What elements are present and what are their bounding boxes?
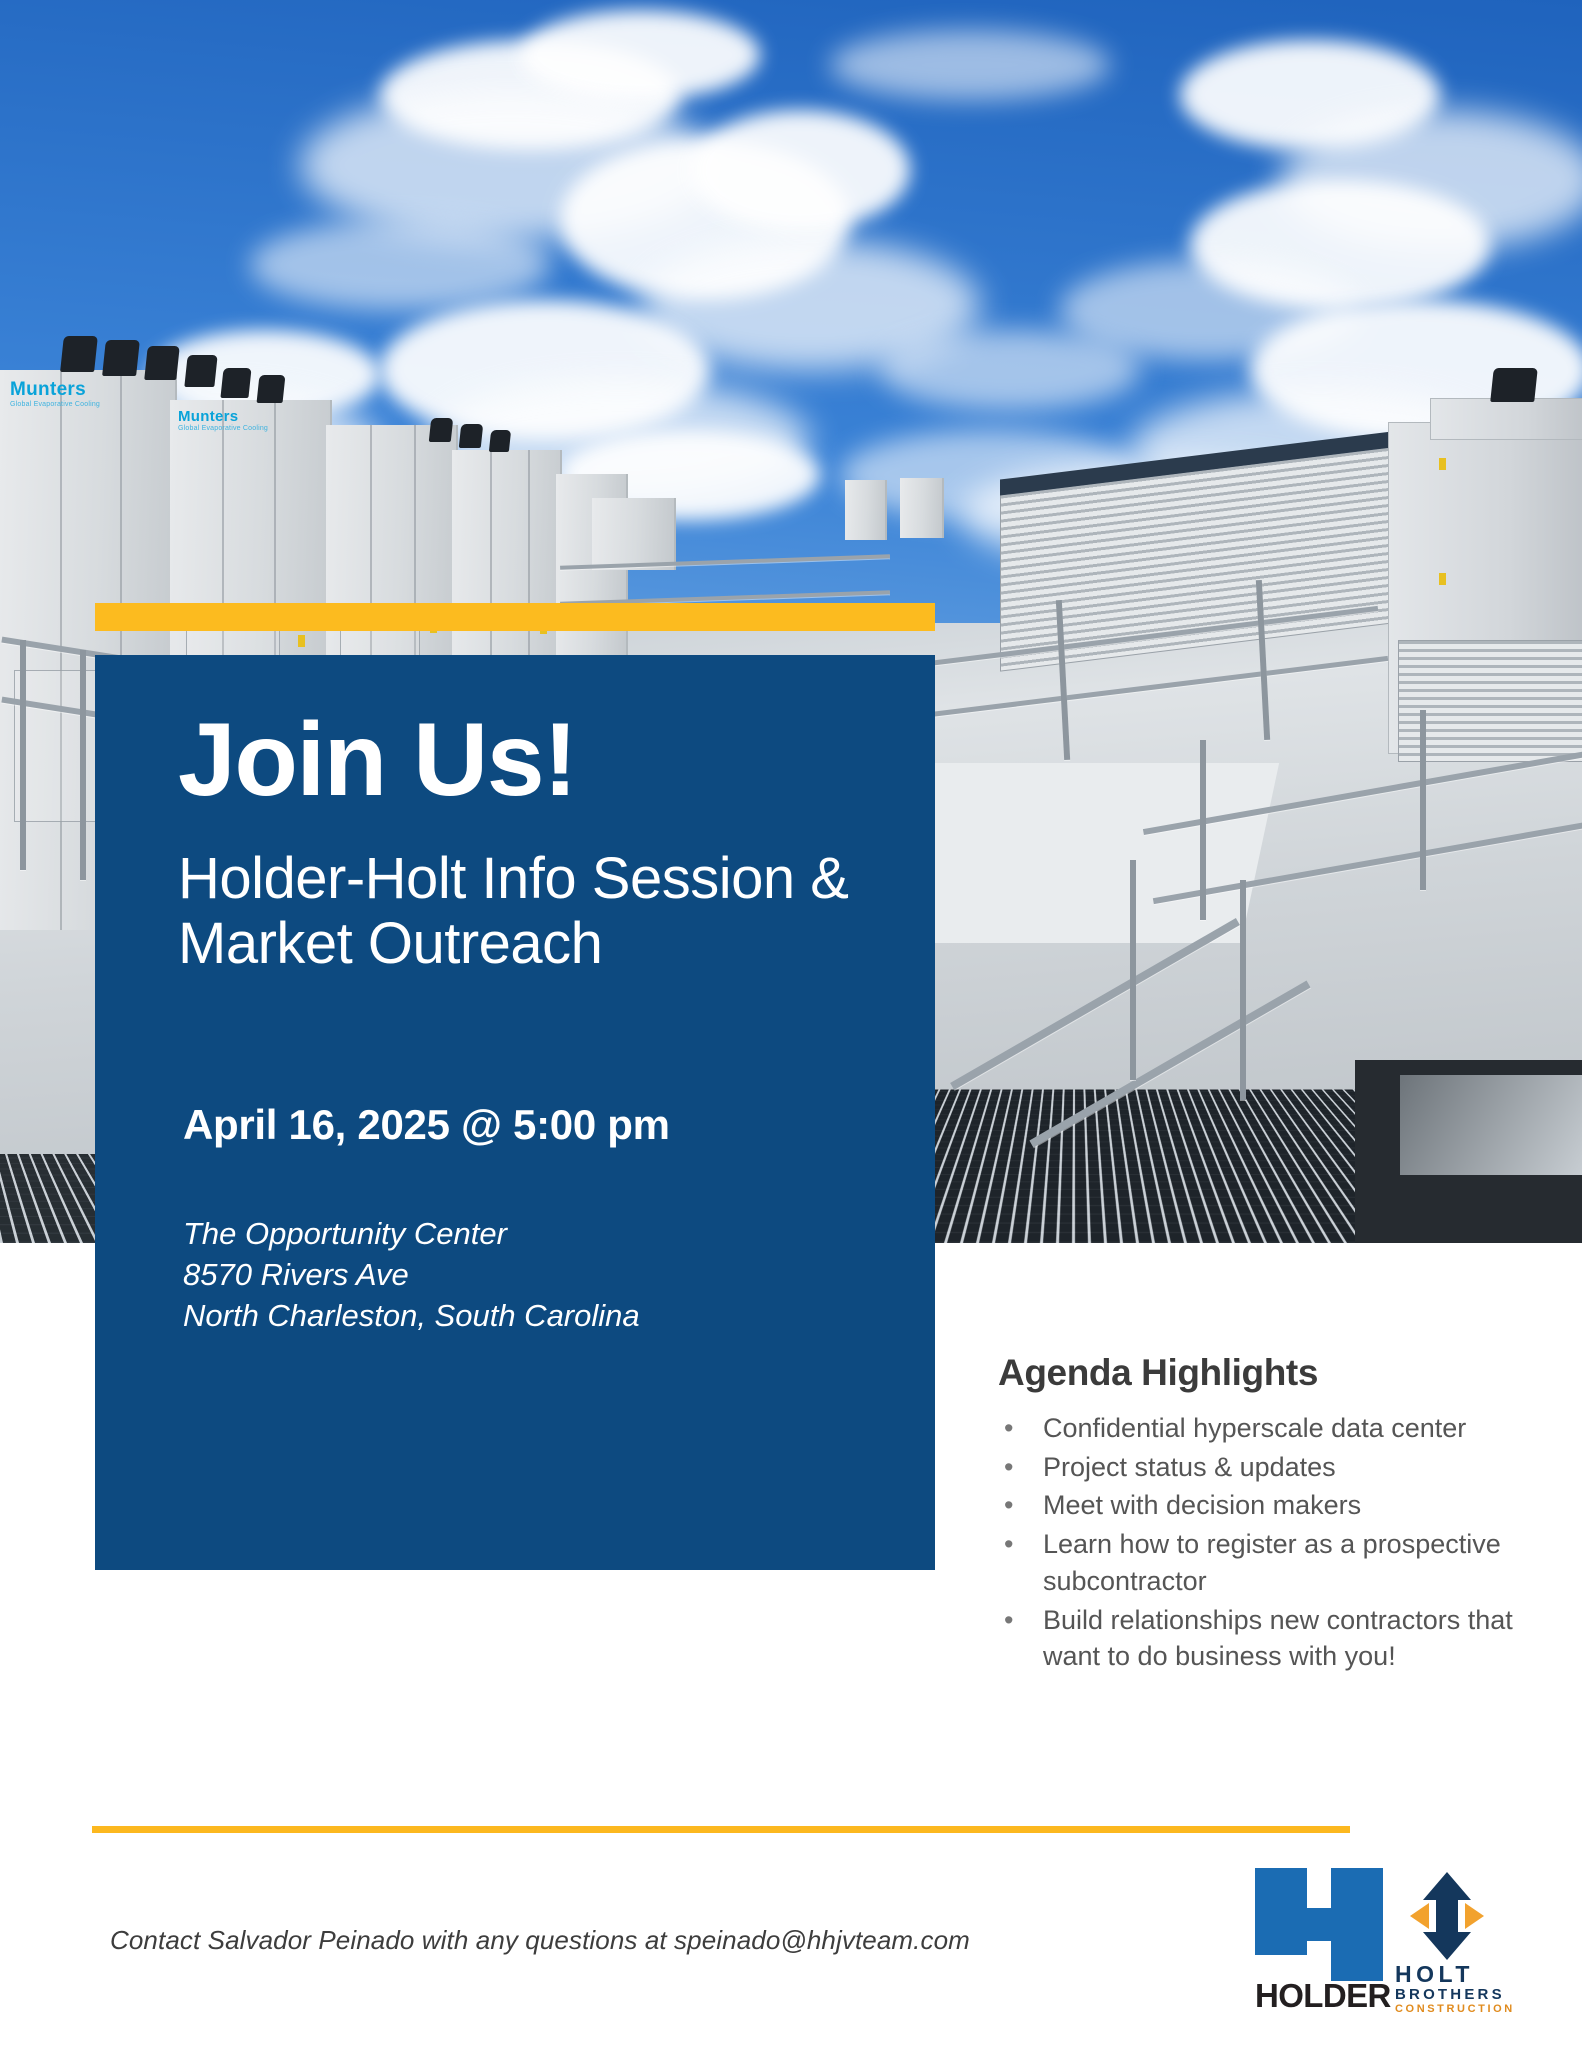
rooftop-box [900,478,944,538]
list-item-label: Project status & updates [1043,1452,1336,1482]
chiller-top [1430,398,1582,440]
agenda-list: • Confidential hyperscale data center • … [998,1410,1528,1675]
fan-hood [429,418,454,442]
event-info-panel: Join Us! Holder-Holt Info Session & Mark… [95,655,935,1570]
cloud [830,30,1110,100]
venue-street: 8570 Rivers Ave [183,1254,895,1295]
bullet-icon: • [1004,1526,1013,1563]
munters-tagline: Global Evaporative Cooling [10,401,100,408]
list-item: • Build relationships new contractors th… [998,1602,1528,1675]
rail-post [1130,860,1136,1080]
holt-wordmark-line1: HOLT [1395,1962,1515,1986]
flyer-page: Munters Global Evaporative Cooling Munte… [0,0,1582,2048]
rail-post [1240,880,1246,1100]
fan-hood [489,430,511,452]
bullet-icon: • [1004,1410,1013,1447]
event-datetime: April 16, 2025 @ 5:00 pm [183,1101,895,1149]
fan-hood [459,424,484,448]
footer-divider [92,1826,1350,1833]
cloud [520,10,760,100]
fan-hood [220,368,251,398]
event-subtitle: Holder-Holt Info Session & Market Outrea… [178,847,895,977]
list-item: • Meet with decision makers [998,1487,1528,1524]
accent-bar-top [95,603,935,631]
fan-hood [184,355,217,387]
list-item-label: Build relationships new contractors that… [1043,1605,1513,1672]
list-item-label: Meet with decision makers [1043,1490,1361,1520]
venue-name: The Opportunity Center [183,1213,895,1254]
munters-brand-text: Munters [178,408,238,425]
list-item: • Confidential hyperscale data center [998,1410,1528,1447]
list-item: • Project status & updates [998,1449,1528,1486]
holder-wordmark: HOLDER [1255,1979,1383,2012]
dark-equipment-panel [1400,1075,1582,1175]
event-venue: The Opportunity Center 8570 Rivers Ave N… [183,1213,895,1337]
holder-h-icon [1255,1868,1383,1981]
bullet-icon: • [1004,1602,1013,1639]
holt-arrow-h-icon [1401,1870,1493,1962]
list-item-label: Confidential hyperscale data center [1043,1413,1466,1443]
page-title: Join Us! [178,707,895,813]
list-item: • Learn how to register as a prospective… [998,1526,1528,1599]
bullet-icon: • [1004,1449,1013,1486]
holt-wordmark-line2: BROTHERS [1395,1986,1515,2003]
list-item-label: Learn how to register as a prospective s… [1043,1529,1501,1596]
rail-post [1420,710,1426,890]
holt-wordmark-line3: CONSTRUCTION [1395,2003,1515,2016]
munters-brand-mark: Munters Global Evaporative Cooling [10,379,100,408]
fan-hood [257,375,286,403]
fan-hood [60,336,98,372]
cloud [250,220,550,310]
rail-post [1200,740,1206,920]
fan-hood [144,346,180,380]
venue-city-state: North Charleston, South Carolina [183,1295,895,1336]
rail-post [20,640,26,870]
cloud [690,110,910,230]
holt-logo: HOLT BROTHERS CONSTRUCTION [1395,1870,1515,2017]
bullet-icon: • [1004,1487,1013,1524]
fan-hood [102,340,140,376]
agenda-heading: Agenda Highlights [998,1352,1528,1394]
agenda-section: Agenda Highlights • Confidential hypersc… [998,1352,1528,1677]
rooftop-box [845,480,887,540]
holder-logo: HOLDER [1255,1868,1383,2012]
fan-hood [1490,368,1538,402]
rooftop-box [592,498,676,570]
munters-tagline: Global Evaporative Cooling [178,425,268,432]
logo-lockup: HOLDER HOLT BROTHERS CONSTRUCTION [1255,1868,1525,2008]
munters-brand-text: Munters [10,379,86,400]
cloud [880,330,1140,410]
munters-brand-mark: Munters Global Evaporative Cooling [178,408,268,432]
contact-line: Contact Salvador Peinado with any questi… [110,1925,970,1956]
rail-post [80,650,86,880]
